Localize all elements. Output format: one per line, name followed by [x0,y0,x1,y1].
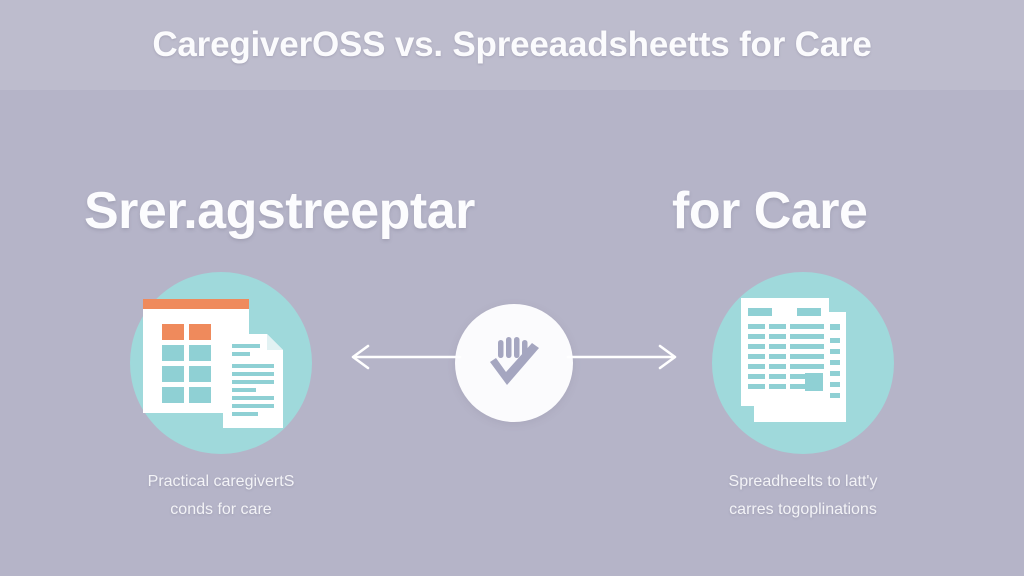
left-caption: Practical caregivertS conds for care [71,468,371,524]
right-icon-circle [712,272,894,454]
heading-row: Srer.agstreeptar for Care [0,165,1024,257]
arrow-left-icon [344,340,462,374]
left-caption-line-1: Practical caregivertS [71,468,371,496]
left-icon-circle [130,272,312,454]
hand-checkmark-icon [481,330,547,396]
right-caption: Spreadheelts to latt'y carres togoplinat… [653,468,953,524]
right-caption-line-2: carres togoplinations [653,496,953,524]
center-hub [455,304,573,422]
heading-right-label: for Care [672,165,972,257]
left-caption-line-2: conds for care [71,496,371,524]
heading-left-label: Srer.agstreeptar [84,165,614,257]
page-title: CaregiverOSS vs. Spreeaadsheetts for Car… [0,0,1024,90]
infographic-canvas: CaregiverOSS vs. Spreeaadsheetts for Car… [0,0,1024,576]
right-caption-line-1: Spreadheelts to latt'y [653,468,953,496]
stacked-spreadsheets-icon [712,272,894,454]
calendar-planner-document-icon [130,272,312,454]
arrow-right-icon [566,340,684,374]
